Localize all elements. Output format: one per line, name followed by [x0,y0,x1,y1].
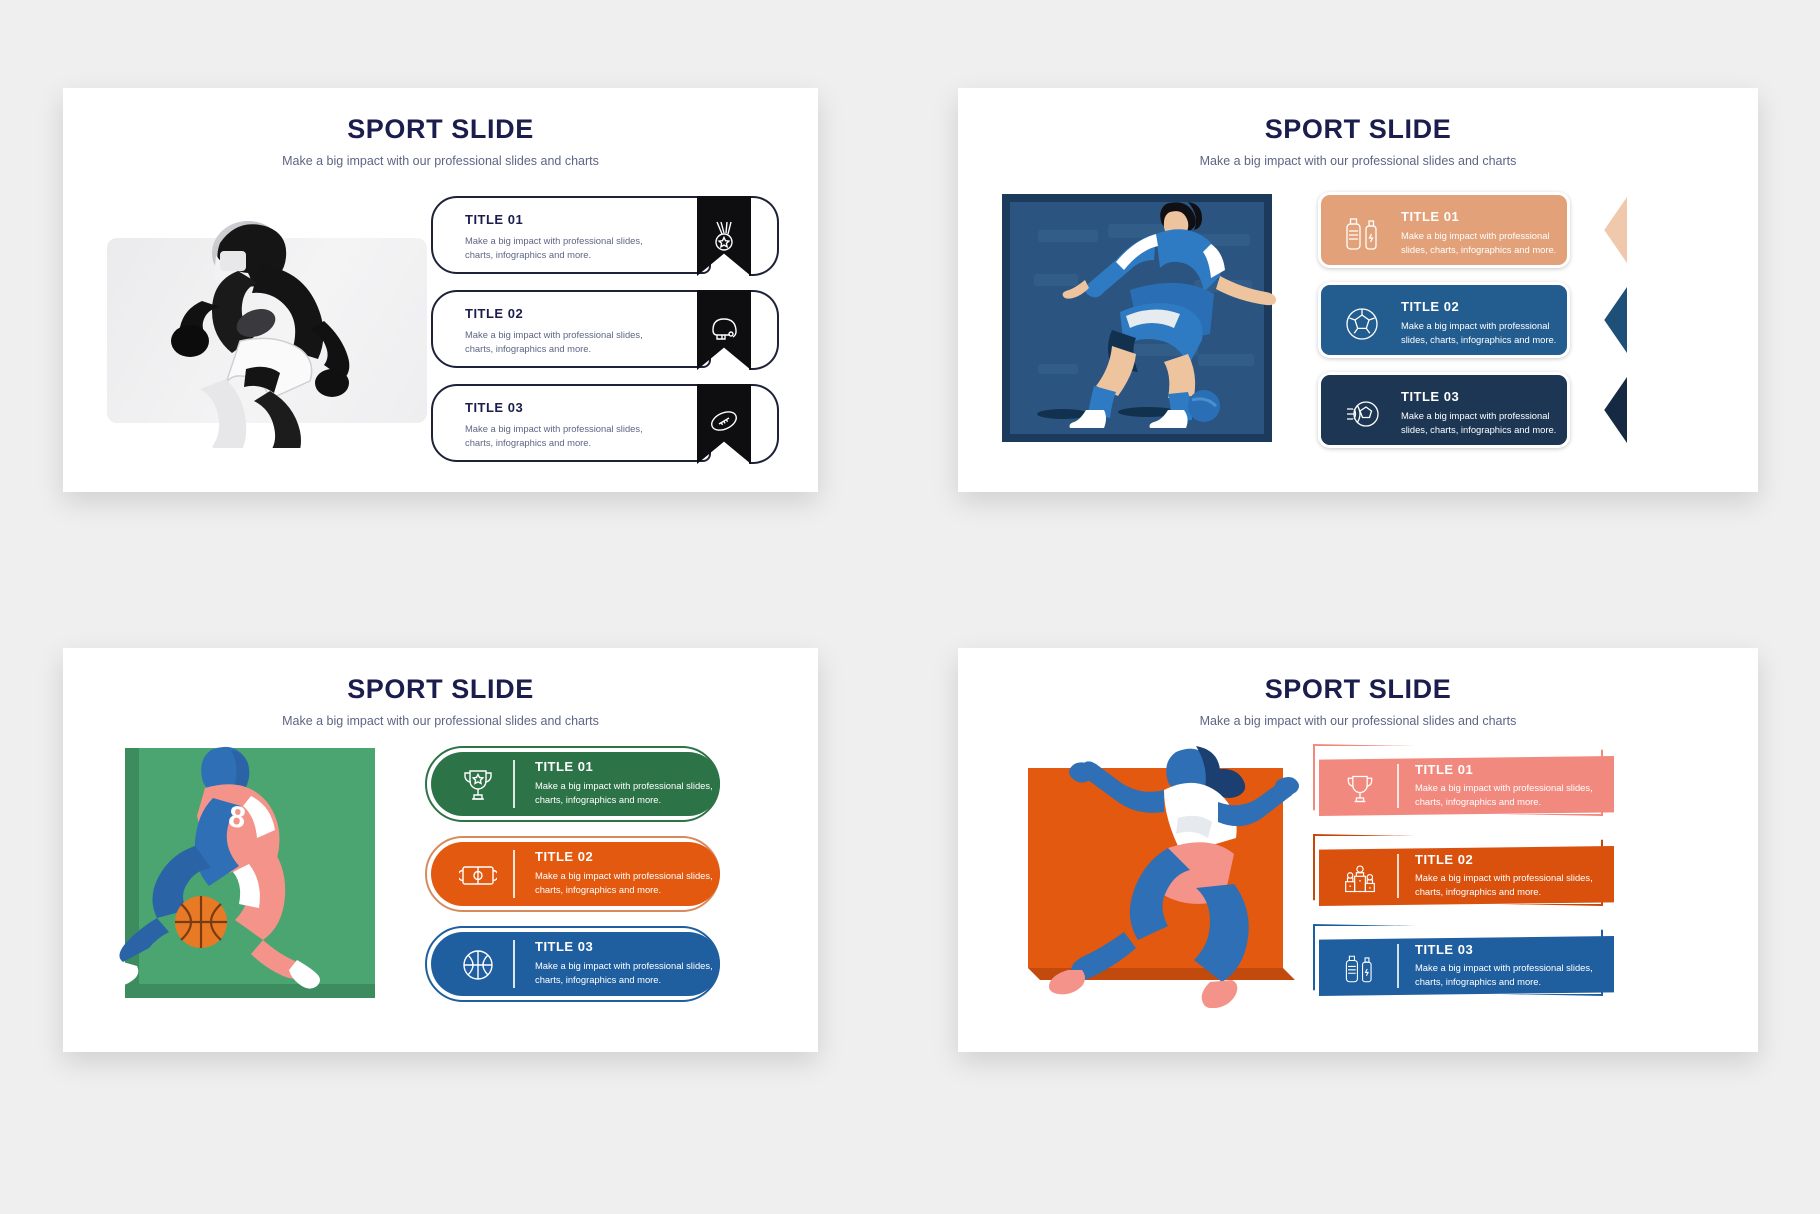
water-bottles-icon [1343,215,1383,253]
card-title: TITLE 02 [535,849,593,864]
card-title: TITLE 02 [1415,852,1473,867]
card-title: TITLE 03 [1401,389,1459,404]
card-description: Make a big impact with professional slid… [1401,229,1571,256]
football-helmet-icon [708,314,740,342]
feature-card-list: TITLE 01 Make a big impact with professi… [1318,192,1618,462]
card-divider [513,760,515,808]
ribbon-tail [1562,377,1627,443]
feature-card[interactable]: TITLE 01 Make a big impact with professi… [431,196,711,274]
feature-card[interactable]: TITLE 03 Make a big impact with professi… [1318,372,1618,448]
card-title: TITLE 03 [535,939,593,954]
page-title: SPORT SLIDE [958,114,1758,145]
slide-basketball[interactable]: SPORT SLIDE Make a big impact with our p… [63,648,818,1052]
american-football-player-illustration [128,193,398,448]
card-title: TITLE 03 [465,400,523,415]
card-title: TITLE 01 [535,759,593,774]
card-description: Make a big impact with professional slid… [1401,319,1571,346]
card-description: Make a big impact with professional slid… [1415,781,1605,808]
card-description: Make a big impact with professional slid… [1401,409,1571,436]
card-title: TITLE 02 [465,306,523,321]
feature-card[interactable]: TITLE 02 Make a big impact with professi… [1318,282,1618,358]
feature-card[interactable]: TITLE 02 Make a big impact with professi… [431,290,711,368]
card-title: TITLE 01 [1415,762,1473,777]
feature-card-list: TITLE 01 Make a big impact with professi… [431,196,711,478]
card-tail [749,384,779,464]
card-band: TITLE 02 Make a big impact with professi… [1319,846,1614,906]
running-woman-illustration [978,728,1308,1008]
american-football-icon [708,408,740,434]
podium-icon [1343,862,1377,896]
card-description: Make a big impact with professional slid… [1415,961,1605,988]
feature-card[interactable]: TITLE 01 Make a big impact with professi… [1313,744,1633,834]
slide-american-football[interactable]: SPORT SLIDE Make a big impact with our p… [63,88,818,492]
card-title: TITLE 01 [465,212,523,227]
page-subtitle: Make a big impact with our professional … [958,714,1758,728]
card-divider [513,850,515,898]
card-description: Make a big impact with professional slid… [535,959,715,986]
basketball-player-illustration: 8 [83,736,413,1006]
feature-card[interactable]: TITLE 03 Make a big impact with professi… [431,384,711,462]
ribbon-body: TITLE 02 Make a big impact with professi… [1318,282,1570,358]
card-divider [1397,764,1399,808]
card-band: TITLE 03 Make a big impact with professi… [1319,936,1614,996]
page-title: SPORT SLIDE [63,114,818,145]
ribbon-body: TITLE 03 Make a big impact with professi… [1318,372,1570,448]
feature-card[interactable]: TITLE 02 Make a big impact with professi… [1313,834,1633,924]
ribbon-badge [697,196,751,276]
trophy-icon [459,766,497,804]
card-band: TITLE 01 Make a big impact with professi… [1319,756,1614,816]
card-description: Make a big impact with professional slid… [535,869,715,896]
soccer-field-icon [459,856,497,894]
soccer-player-illustration [1008,194,1290,442]
soccer-ball-icon [1343,305,1383,343]
feature-card[interactable]: TITLE 02 Make a big impact with professi… [425,836,720,912]
illustration-frame [1002,194,1272,442]
card-title: TITLE 01 [1401,209,1459,224]
page-subtitle: Make a big impact with our professional … [63,154,818,168]
water-bottles-icon [1343,952,1377,986]
card-divider [1397,854,1399,898]
basketball-icon [459,946,497,984]
slide-deck-canvas: SPORT SLIDE Make a big impact with our p… [0,0,1820,1214]
page-subtitle: Make a big impact with our professional … [63,714,818,728]
page-title: SPORT SLIDE [958,674,1758,705]
trophy-icon [1343,772,1377,806]
feature-card-list: TITLE 01 Make a big impact with professi… [425,746,720,1016]
page-title: SPORT SLIDE [63,674,818,705]
page-subtitle: Make a big impact with our professional … [958,154,1758,168]
feature-card[interactable]: TITLE 01 Make a big impact with professi… [425,746,720,822]
card-description: Make a big impact with professional slid… [465,328,643,355]
feature-card[interactable]: TITLE 03 Make a big impact with professi… [1313,924,1633,1014]
feature-card[interactable]: TITLE 03 Make a big impact with professi… [425,926,720,1002]
ribbon-body: TITLE 01 Make a big impact with professi… [1318,192,1570,268]
card-description: Make a big impact with professional slid… [465,422,643,449]
card-description: Make a big impact with professional slid… [465,234,643,261]
slide-soccer[interactable]: SPORT SLIDE Make a big impact with our p… [958,88,1758,492]
slide-running[interactable]: SPORT SLIDE Make a big impact with our p… [958,648,1758,1052]
card-title: TITLE 03 [1415,942,1473,957]
card-description: Make a big impact with professional slid… [535,779,715,806]
card-tail [749,196,779,276]
card-title: TITLE 02 [1401,299,1459,314]
feature-card[interactable]: TITLE 01 Make a big impact with professi… [1318,192,1618,268]
card-tail [749,290,779,370]
card-description: Make a big impact with professional slid… [1415,871,1605,898]
card-divider [513,940,515,988]
flying-soccer-ball-icon [1343,395,1383,433]
ribbon-tail [1562,197,1627,263]
medal-icon [709,220,739,254]
feature-card-list: TITLE 01 Make a big impact with professi… [1313,744,1633,1014]
ribbon-badge [697,384,751,464]
card-divider [1397,944,1399,988]
ribbon-tail [1562,287,1627,353]
ribbon-badge [697,290,751,370]
